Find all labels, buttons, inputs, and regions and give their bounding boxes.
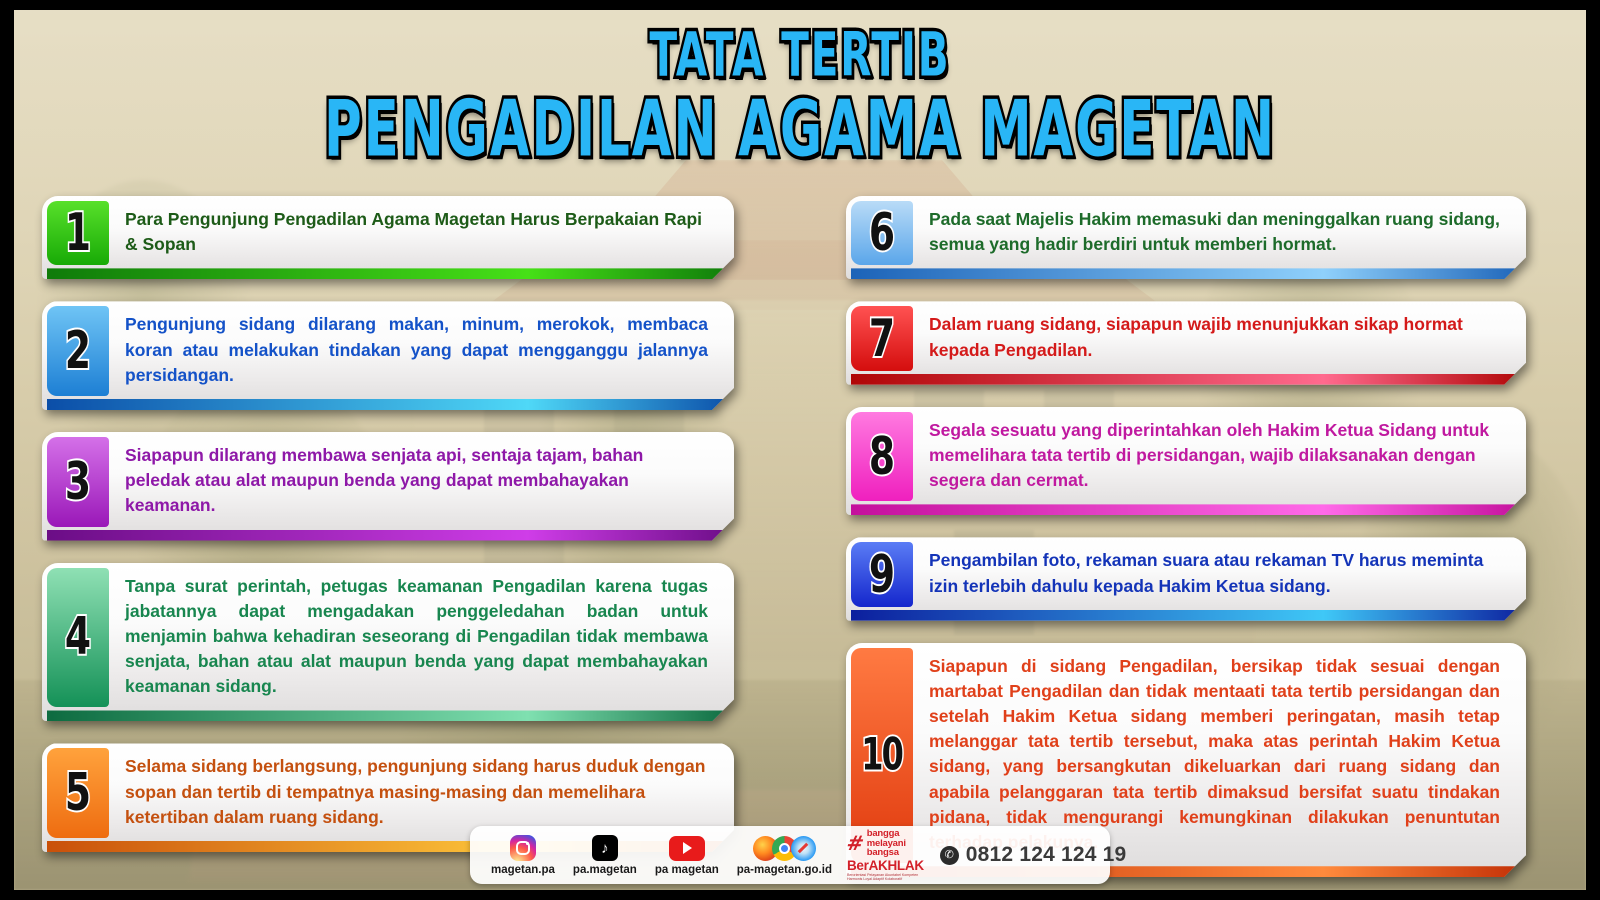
footer-item-tiktok[interactable]: ♪ pa.magetan bbox=[564, 834, 646, 876]
rule-number: 9 bbox=[869, 549, 895, 601]
instagram-icon bbox=[510, 834, 536, 862]
whatsapp-number: 0812 124 124 19 bbox=[966, 843, 1127, 867]
rule-number: 4 bbox=[65, 611, 91, 663]
rule-text: Pengambilan foto, rekaman suara atau rek… bbox=[929, 548, 1500, 598]
berakhlak-hash-icon: # bbox=[845, 833, 866, 853]
youtube-handle: pa magetan bbox=[655, 864, 719, 876]
rule-number-badge: 2 bbox=[47, 306, 109, 396]
rule-number: 10 bbox=[862, 733, 903, 777]
rule-body: Dalam ruang sidang, siapapun wajib menun… bbox=[913, 301, 1526, 384]
rule-card-4: 4Tanpa surat perintah, petugas keamanan … bbox=[42, 563, 734, 722]
rule-card-shape: 2Pengunjung sidang dilarang makan, minum… bbox=[42, 301, 734, 410]
rule-card-shape: 3Siapapun dilarang membawa senjata api, … bbox=[42, 432, 734, 541]
rule-number-badge: 9 bbox=[851, 542, 913, 606]
infographic-poster: TATA TERTIB PENGADILAN AGAMA MAGETAN 1Pa… bbox=[0, 0, 1600, 900]
rule-number: 2 bbox=[65, 325, 91, 377]
footer-item-youtube[interactable]: pa magetan bbox=[646, 834, 728, 876]
rule-text: Siapapun di sidang Pengadilan, bersikap … bbox=[929, 654, 1500, 856]
rule-body: Pada saat Majelis Hakim memasuki dan men… bbox=[913, 196, 1526, 279]
rule-card-1: 1Para Pengunjung Pengadilan Agama Mageta… bbox=[42, 196, 734, 279]
rule-number-badge: 6 bbox=[851, 201, 913, 265]
rule-number-badge: 8 bbox=[851, 412, 913, 502]
whatsapp-icon: ✆ bbox=[940, 846, 959, 865]
rules-column-left: 1Para Pengunjung Pengadilan Agama Mageta… bbox=[42, 196, 734, 874]
footer-contact-bar: magetan.pa ♪ pa.magetan pa magetan pa-ma… bbox=[470, 826, 1110, 884]
website-url: pa-magetan.go.id bbox=[737, 864, 832, 876]
poster-title: TATA TERTIB PENGADILAN AGAMA MAGETAN bbox=[0, 26, 1600, 148]
rules-column-right: 6Pada saat Majelis Hakim memasuki dan me… bbox=[846, 196, 1526, 899]
rule-number-badge: 5 bbox=[47, 748, 109, 838]
rule-card-shape: 8Segala sesuatu yang diperintahkan oleh … bbox=[846, 407, 1526, 516]
rule-text: Tanpa surat perintah, petugas keamanan P… bbox=[125, 574, 708, 700]
rule-text: Segala sesuatu yang diperintahkan oleh H… bbox=[929, 418, 1500, 494]
browsers-icon bbox=[753, 834, 816, 862]
rule-card-8: 8Segala sesuatu yang diperintahkan oleh … bbox=[846, 407, 1526, 516]
rule-text: Pada saat Majelis Hakim memasuki dan men… bbox=[929, 207, 1500, 257]
tiktok-icon: ♪ bbox=[592, 834, 618, 862]
rule-number-badge: 4 bbox=[47, 568, 109, 708]
rule-card-9: 9Pengambilan foto, rekaman suara atau re… bbox=[846, 537, 1526, 620]
rule-text: Siapapun dilarang membawa senjata api, s… bbox=[125, 443, 708, 519]
rule-text: Selama sidang berlangsung, pengunjung si… bbox=[125, 754, 708, 830]
rule-card-shape: 6Pada saat Majelis Hakim memasuki dan me… bbox=[846, 196, 1526, 279]
rule-number: 5 bbox=[65, 767, 91, 819]
rule-number: 8 bbox=[869, 431, 895, 483]
rule-number-badge: 1 bbox=[47, 201, 109, 265]
rule-text: Para Pengunjung Pengadilan Agama Magetan… bbox=[125, 207, 708, 257]
rule-card-shape: 9Pengambilan foto, rekaman suara atau re… bbox=[846, 537, 1526, 620]
rule-body: Pengunjung sidang dilarang makan, minum,… bbox=[109, 301, 734, 410]
rule-text: Pengunjung sidang dilarang makan, minum,… bbox=[125, 312, 708, 388]
rule-number-badge: 7 bbox=[851, 306, 913, 370]
safari-icon bbox=[791, 836, 816, 861]
rule-card-7: 7Dalam ruang sidang, siapapun wajib menu… bbox=[846, 301, 1526, 384]
rule-body: Tanpa surat perintah, petugas keamanan P… bbox=[109, 563, 734, 722]
berakhlak-wordmark: BerAKHLAK bbox=[847, 858, 924, 873]
rule-body: Pengambilan foto, rekaman suara atau rek… bbox=[913, 537, 1526, 620]
rule-body: Siapapun dilarang membawa senjata api, s… bbox=[109, 432, 734, 541]
tiktok-handle: pa.magetan bbox=[573, 864, 637, 876]
berakhlak-subtext: Berorientasi Pelayanan Akuntabel Kompete… bbox=[847, 873, 924, 881]
rule-number-badge: 3 bbox=[47, 437, 109, 527]
footer-item-website[interactable]: pa-magetan.go.id bbox=[728, 834, 841, 876]
rule-card-3: 3Siapapun dilarang membawa senjata api, … bbox=[42, 432, 734, 541]
rule-card-shape: 7Dalam ruang sidang, siapapun wajib menu… bbox=[846, 301, 1526, 384]
instagram-handle: magetan.pa bbox=[491, 864, 555, 876]
title-line-2: PENGADILAN AGAMA MAGETAN bbox=[64, 92, 1536, 169]
rule-number: 6 bbox=[869, 207, 895, 259]
berakhlak-word-3: bangsa bbox=[867, 848, 906, 858]
berakhlak-logo: # bangga melayani bangsa BerAKHLAK Beror… bbox=[841, 829, 930, 881]
footer-item-instagram[interactable]: magetan.pa bbox=[482, 834, 564, 876]
tiktok-glyph: ♪ bbox=[592, 835, 618, 861]
title-line-1: TATA TERTIB bbox=[64, 26, 1536, 87]
rule-card-shape: 1Para Pengunjung Pengadilan Agama Mageta… bbox=[42, 196, 734, 279]
rule-card-shape: 4Tanpa surat perintah, petugas keamanan … bbox=[42, 563, 734, 722]
rule-number: 1 bbox=[65, 207, 91, 259]
youtube-icon bbox=[669, 834, 705, 862]
rule-text: Dalam ruang sidang, siapapun wajib menun… bbox=[929, 312, 1500, 362]
footer-item-whatsapp[interactable]: ✆ 0812 124 124 19 bbox=[930, 843, 1127, 867]
rule-card-2: 2Pengunjung sidang dilarang makan, minum… bbox=[42, 301, 734, 410]
rule-body: Segala sesuatu yang diperintahkan oleh H… bbox=[913, 407, 1526, 516]
rule-number: 7 bbox=[869, 313, 895, 365]
rule-card-6: 6Pada saat Majelis Hakim memasuki dan me… bbox=[846, 196, 1526, 279]
rule-number: 3 bbox=[65, 456, 91, 508]
rule-body: Para Pengunjung Pengadilan Agama Magetan… bbox=[109, 196, 734, 279]
